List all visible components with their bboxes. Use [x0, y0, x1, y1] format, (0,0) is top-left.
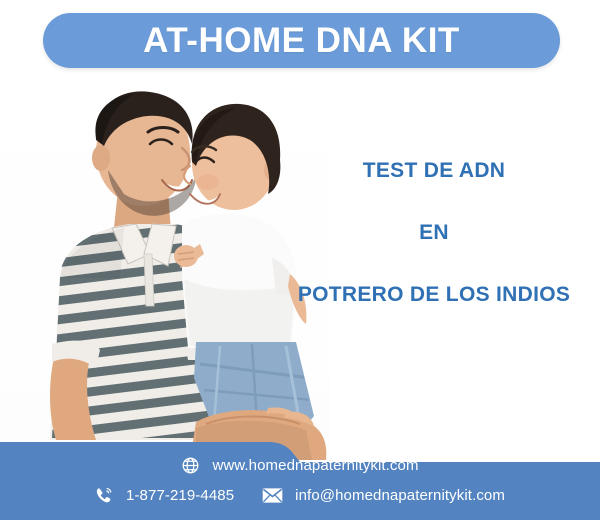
footer-bar: www.homednapaternitykit.com 1-877-219-44… — [0, 434, 600, 520]
headline-line-1: TEST DE ADN — [272, 160, 596, 181]
footer-content: www.homednapaternitykit.com 1-877-219-44… — [0, 434, 600, 520]
headline-block: TEST DE ADN EN POTRERO DE LOS INDIOS — [272, 160, 596, 305]
footer-row-website: www.homednapaternitykit.com — [0, 456, 600, 475]
footer-row-contact: 1-877-219-4485 info@homednapaternitykit.… — [0, 486, 600, 505]
footer-phone[interactable]: 1-877-219-4485 — [95, 486, 234, 505]
footer-website-text: www.homednapaternitykit.com — [212, 458, 418, 473]
phone-icon — [95, 486, 114, 505]
poster-root: AT-HOME DNA KIT — [0, 0, 600, 520]
globe-icon — [181, 456, 200, 475]
footer-website[interactable]: www.homednapaternitykit.com — [181, 456, 418, 475]
headline-line-3: POTRERO DE LOS INDIOS — [272, 284, 596, 305]
header-banner: AT-HOME DNA KIT — [43, 13, 560, 68]
headline-line-2: EN — [272, 222, 596, 243]
footer-email-text: info@homednapaternitykit.com — [295, 488, 505, 503]
footer-phone-text: 1-877-219-4485 — [126, 488, 234, 503]
page-title: AT-HOME DNA KIT — [143, 23, 460, 58]
envelope-icon — [262, 487, 283, 504]
footer-email[interactable]: info@homednapaternitykit.com — [262, 487, 505, 504]
